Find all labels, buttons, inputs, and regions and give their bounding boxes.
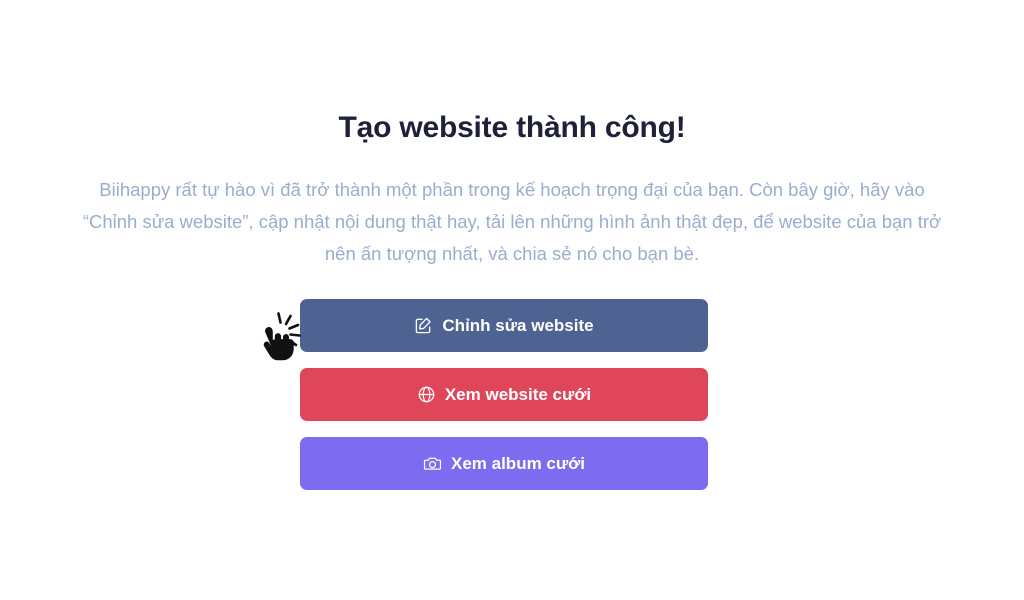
clicking-hand-cursor-icon <box>252 306 304 368</box>
intro-paragraph: Biihappy rất tự hào vì đã trở thành một … <box>72 174 952 270</box>
pencil-square-icon <box>414 316 433 335</box>
view-album-button-label: Xem album cưới <box>451 454 585 474</box>
view-album-button[interactable]: Xem album cưới <box>300 437 708 490</box>
action-button-group: Chỉnh sửa website Xem website cưới Xem a… <box>300 299 708 490</box>
success-page: Tạo website thành công! Biihappy rất tự … <box>0 0 1024 600</box>
camera-icon <box>423 454 442 473</box>
view-website-button[interactable]: Xem website cưới <box>300 368 708 421</box>
globe-icon <box>417 385 436 404</box>
view-website-button-label: Xem website cưới <box>445 385 591 405</box>
edit-website-button-label: Chỉnh sửa website <box>442 316 593 336</box>
edit-website-button[interactable]: Chỉnh sửa website <box>300 299 708 352</box>
page-title: Tạo website thành công! <box>0 108 1024 148</box>
